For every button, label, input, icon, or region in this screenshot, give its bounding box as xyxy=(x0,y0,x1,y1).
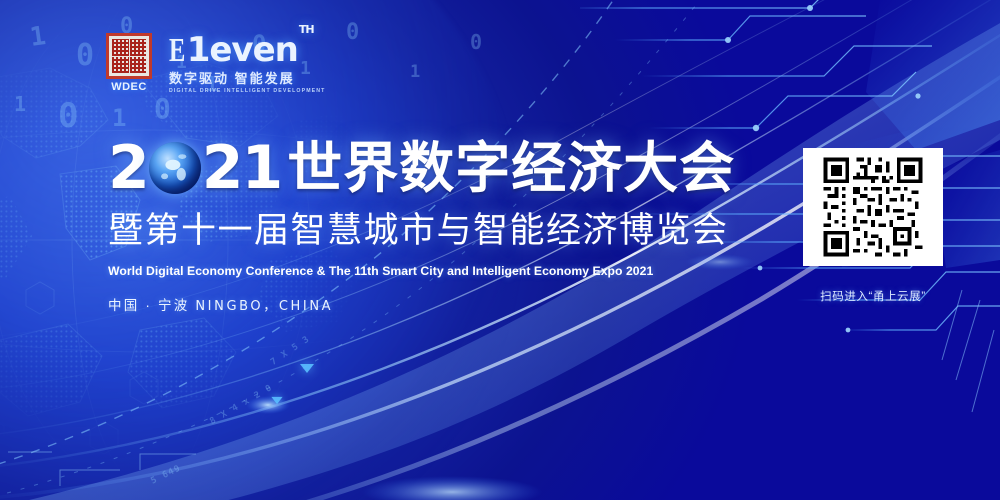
wdec-logo-label: WDEC xyxy=(111,81,147,93)
globe-zero-icon xyxy=(149,142,201,194)
wdec-seal-icon xyxy=(106,33,152,79)
eleven-word: 1even xyxy=(187,35,298,66)
globe-ring-icon xyxy=(149,142,201,194)
sub-title-en: World Digital Economy Conference & The 1… xyxy=(108,264,748,278)
main-title-cn: 世界数字经济大会 xyxy=(287,141,735,196)
qr-caption: 扫码进入“甬上云展” xyxy=(803,288,943,304)
eleven-en-tagline: DIGITAL DRIVE INTELLIGENT DEVELOPMENT xyxy=(169,88,326,94)
location-line: 中国 · 宁波 NINGBO，CHINA xyxy=(108,294,748,314)
title-block: 2 21 世界数字经济大会 暨第十一届智慧城市与智能经济博览会 World Di… xyxy=(108,138,748,314)
eleven-e-mark: E xyxy=(169,35,185,66)
marker-triangle-icon xyxy=(271,397,282,404)
eleven-logo[interactable]: E 1even TH 数字驱动 智能发展 DIGITAL DRIVE INTEL… xyxy=(169,33,326,94)
conference-poster: 1 0 0 1 1 0 1 0 1 0 1 0 1 0 xyxy=(0,0,1000,500)
eleven-superscript: TH xyxy=(299,25,314,35)
location-en: NINGBO，CHINA xyxy=(195,299,333,314)
eleven-cn-tagline: 数字驱动 智能发展 xyxy=(169,68,326,87)
qr-code[interactable] xyxy=(803,148,943,266)
qr-block: 扫码进入“甬上云展” xyxy=(803,148,943,304)
location-cn: 中国 · 宁波 xyxy=(108,298,189,313)
year-suffix: 21 xyxy=(202,138,282,198)
eleven-wordmark: E 1even TH xyxy=(169,35,326,66)
year-prefix: 2 xyxy=(108,138,148,198)
qr-code-svg xyxy=(809,154,937,260)
marker-triangle-icon xyxy=(300,364,314,373)
logo-group: WDEC E 1even TH 数字驱动 智能发展 DIGITAL DRIVE … xyxy=(102,33,326,94)
wdec-logo[interactable]: WDEC xyxy=(102,33,156,93)
sub-title-cn: 暨第十一届智慧城市与智能经济博览会 xyxy=(108,202,748,253)
main-title: 2 21 世界数字经济大会 xyxy=(108,138,748,198)
